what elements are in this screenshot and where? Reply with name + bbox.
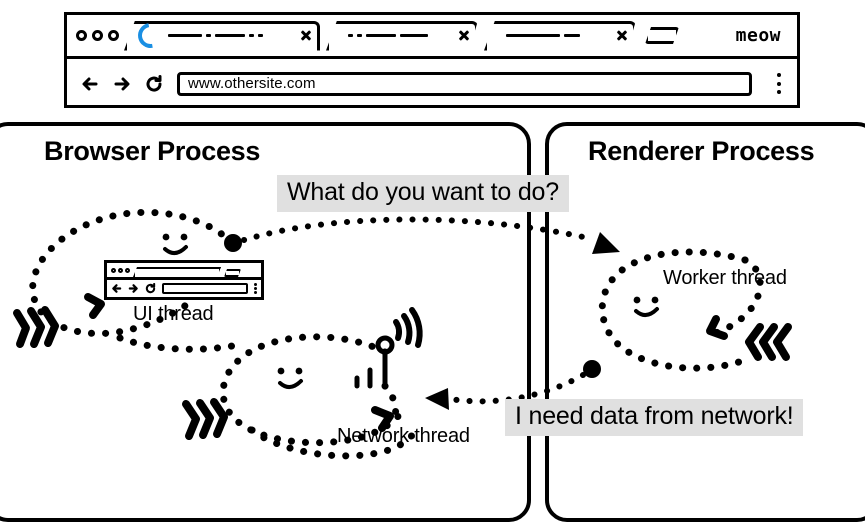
message-need-data: I need data from network! bbox=[505, 399, 803, 436]
menu-kebab-icon[interactable] bbox=[776, 73, 781, 94]
tab-close-icon[interactable] bbox=[616, 30, 628, 42]
tab-second[interactable] bbox=[326, 21, 478, 51]
maximize-dot-icon[interactable] bbox=[108, 30, 119, 41]
ui-thread-label: UI thread bbox=[133, 303, 213, 326]
minimize-dot-icon[interactable] bbox=[92, 30, 103, 41]
tab-close-icon[interactable] bbox=[300, 30, 312, 42]
ui-thread-browser-icon bbox=[104, 260, 264, 300]
mini-window-controls bbox=[107, 268, 130, 273]
address-bar-value: www.othersite.com bbox=[188, 75, 316, 92]
forward-arrow-icon[interactable] bbox=[113, 75, 131, 93]
tab-title-placeholder bbox=[168, 34, 296, 37]
tab-third[interactable] bbox=[484, 21, 636, 51]
tab-title-placeholder bbox=[506, 34, 612, 37]
network-thread-label: Network thread bbox=[337, 425, 470, 448]
toolbar: www.othersite.com bbox=[67, 59, 797, 108]
message-what-do-you-want: What do you want to do? bbox=[277, 175, 569, 212]
diagram-canvas: meow www.othersite.com Browser Process R… bbox=[0, 0, 865, 504]
address-bar[interactable]: www.othersite.com bbox=[177, 72, 752, 96]
mini-tab bbox=[133, 267, 221, 277]
tab-close-icon[interactable] bbox=[458, 30, 470, 42]
loading-spinner-icon bbox=[133, 18, 168, 53]
tab-strip: meow bbox=[67, 15, 797, 59]
tab-title-placeholder bbox=[348, 34, 454, 37]
mini-reload-icon bbox=[145, 283, 156, 294]
close-dot-icon[interactable] bbox=[76, 30, 87, 41]
browser-window: meow www.othersite.com bbox=[64, 12, 800, 108]
renderer-process-panel bbox=[545, 122, 865, 522]
mini-back-icon bbox=[111, 283, 122, 294]
mini-toolbar bbox=[107, 280, 261, 297]
mini-address-bar bbox=[162, 283, 248, 294]
new-tab-button[interactable] bbox=[645, 27, 679, 44]
back-arrow-icon[interactable] bbox=[81, 75, 99, 93]
brand-label: meow bbox=[736, 25, 797, 46]
worker-thread-label: Worker thread bbox=[663, 267, 787, 290]
tab-loading[interactable] bbox=[124, 21, 320, 51]
mini-menu-icon bbox=[254, 283, 257, 294]
mini-forward-icon bbox=[128, 283, 139, 294]
renderer-process-title: Renderer Process bbox=[588, 136, 814, 167]
window-controls bbox=[67, 30, 126, 41]
mini-new-tab bbox=[224, 269, 241, 277]
browser-process-title: Browser Process bbox=[44, 136, 260, 167]
reload-icon[interactable] bbox=[145, 75, 163, 93]
mini-tab-strip bbox=[107, 263, 261, 280]
